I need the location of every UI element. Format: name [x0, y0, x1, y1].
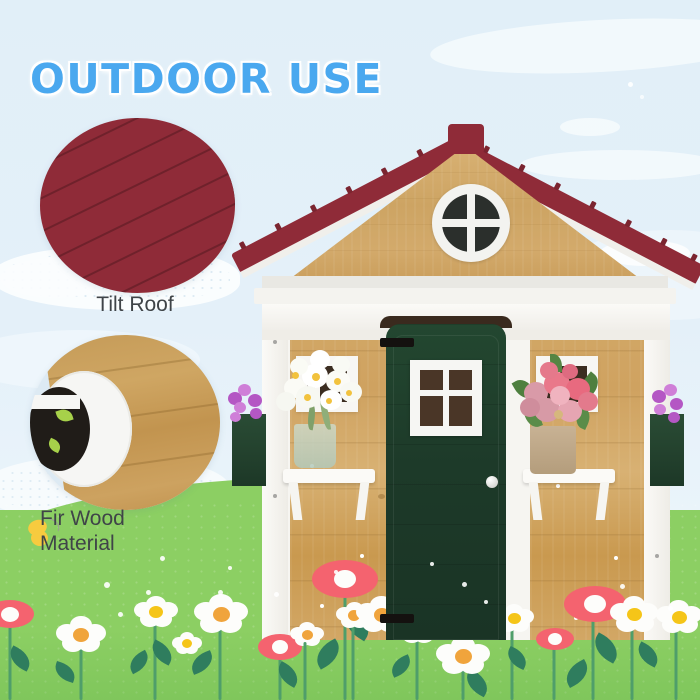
- door-hinge-bottom: [380, 614, 414, 623]
- callout-label-tilt-roof: Tilt Roof: [20, 293, 250, 318]
- flower-daisy: [46, 600, 116, 700]
- roof-ridge-cap: [448, 124, 484, 154]
- bouquet-left: [268, 320, 388, 476]
- flower-daisy: [172, 632, 212, 676]
- callout-label-line2: Material: [40, 532, 240, 557]
- callout-label-fir-wood: Fir Wood Material: [40, 507, 240, 557]
- flower-daisy: [278, 618, 332, 700]
- roof-closeup: [40, 118, 235, 293]
- flower-daisy: [648, 596, 700, 700]
- flower-pink: [528, 624, 580, 700]
- planter-left: [232, 414, 266, 486]
- flower-pink: [0, 596, 36, 700]
- bouquet-right: [506, 326, 626, 478]
- glass-vase: [294, 424, 336, 468]
- door-window: [410, 360, 482, 436]
- planter-right: [650, 414, 684, 486]
- callout-fir-wood: [30, 335, 220, 510]
- round-gable-window: [432, 184, 510, 262]
- eave-trim: [254, 288, 676, 304]
- page-title: OUTDOOR USE: [30, 55, 383, 103]
- callout-tilt-roof: [40, 118, 235, 293]
- sparkle-icon: [640, 95, 644, 99]
- door-knob[interactable]: [486, 476, 498, 488]
- sparkle-icon: [628, 82, 633, 87]
- callout-label-line1: Fir Wood: [40, 507, 240, 532]
- burlap-pot: [530, 426, 576, 474]
- playhouse-door[interactable]: [386, 324, 506, 640]
- product-marketing-image: Tilt Roof Fir Wood Material OUTDOOR USE: [0, 0, 700, 700]
- flower-daisy: [428, 634, 498, 700]
